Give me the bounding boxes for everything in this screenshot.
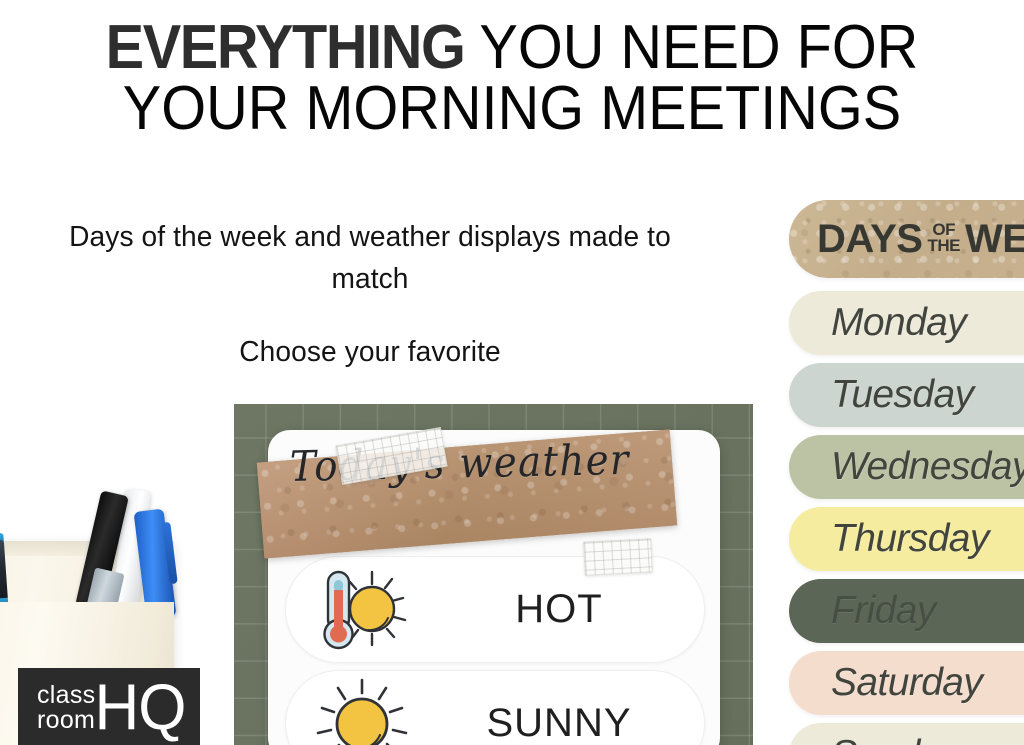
classroom-hq-logo[interactable]: class room HQ bbox=[18, 668, 200, 745]
days-of-the-week-panel: DAYS OF THE WEEK Monday Tuesday Wednesda… bbox=[789, 200, 1024, 745]
logo-line-2: room bbox=[37, 708, 95, 734]
logo-wordmark: class room bbox=[37, 683, 95, 734]
logo-line-1: class bbox=[37, 683, 95, 709]
weather-label-hot: HOT bbox=[438, 587, 704, 632]
day-pill-sunday[interactable]: Sunday bbox=[789, 723, 1024, 745]
weather-label-sunny: SUNNY bbox=[438, 701, 704, 745]
weather-display-board: Today's weather bbox=[234, 404, 753, 745]
weather-card: Today's weather bbox=[268, 430, 720, 745]
page-title: EVERYTHING YOU NEED FOR YOUR MORNING MEE… bbox=[36, 18, 988, 140]
day-label-monday: Monday bbox=[789, 301, 966, 345]
day-pill-saturday[interactable]: Saturday bbox=[789, 651, 1024, 715]
washi-tape-bottom-icon bbox=[583, 538, 653, 576]
day-label-sunday: Sunday bbox=[789, 733, 960, 745]
slide-canvas: EVERYTHING YOU NEED FOR YOUR MORNING MEE… bbox=[0, 0, 1024, 745]
weather-row-sunny[interactable]: SUNNY bbox=[285, 670, 705, 745]
days-of-the-week-header: DAYS OF THE WEEK bbox=[789, 200, 1024, 278]
headline-line-2: YOUR MORNING MEETINGS bbox=[36, 79, 988, 140]
day-pill-wednesday[interactable]: Wednesday bbox=[789, 435, 1024, 499]
day-pill-thursday[interactable]: Thursday bbox=[789, 507, 1024, 571]
sun-icon bbox=[286, 671, 438, 745]
day-pill-friday[interactable]: Friday bbox=[789, 579, 1024, 643]
thermometer-sun-icon bbox=[286, 557, 438, 662]
day-pill-monday[interactable]: Monday bbox=[789, 291, 1024, 355]
logo-hq-mark: HQ bbox=[94, 681, 185, 735]
days-header-text: DAYS OF THE WEEK bbox=[789, 217, 1024, 262]
day-label-wednesday: Wednesday bbox=[789, 445, 1024, 489]
days-header-the: THE bbox=[927, 238, 960, 254]
days-header-word-2: WEEK bbox=[965, 217, 1024, 262]
days-header-of-the: OF THE bbox=[927, 222, 960, 256]
subtitle-block: Days of the week and weather displays ma… bbox=[30, 216, 710, 373]
subtitle-line-2: Choose your favorite bbox=[40, 332, 700, 373]
days-header-word-1: DAYS bbox=[817, 217, 922, 262]
subtitle-line-1: Days of the week and weather displays ma… bbox=[40, 216, 700, 300]
headline-line-1: EVERYTHING YOU NEED FOR bbox=[36, 18, 988, 79]
day-label-friday: Friday bbox=[789, 589, 936, 633]
day-label-tuesday: Tuesday bbox=[789, 373, 974, 417]
headline-rest: YOU NEED FOR bbox=[464, 13, 918, 82]
day-label-saturday: Saturday bbox=[789, 661, 982, 705]
headline-emphasis: EVERYTHING bbox=[106, 13, 465, 82]
day-pill-tuesday[interactable]: Tuesday bbox=[789, 363, 1024, 427]
day-label-thursday: Thursday bbox=[789, 517, 989, 561]
